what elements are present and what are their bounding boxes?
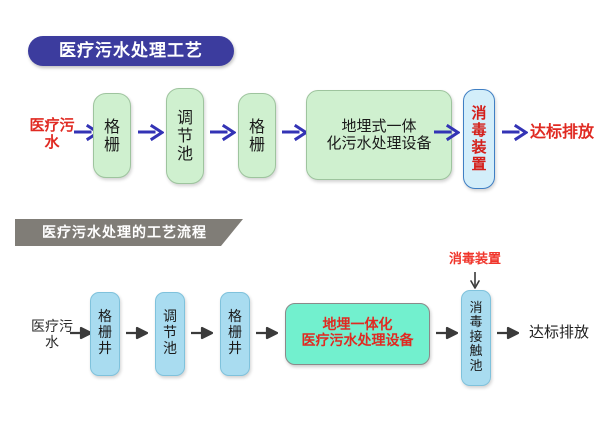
section1-banner-title: 医疗污水处理工艺: [59, 43, 203, 60]
section1-arrow-5: [502, 124, 528, 142]
section1-node-3[interactable]: 地埋式一体 化污水处理设备: [306, 90, 452, 180]
section2-banner-title: 医疗污水处理的工艺流程: [15, 226, 207, 240]
section2-node-4-line-1: 毒: [469, 315, 482, 330]
section1-node-3-line-1: 化污水处理设备: [326, 135, 431, 152]
section2-banner: 医疗污水处理的工艺流程: [15, 219, 243, 246]
section2-node-0-line-1: 栅: [98, 325, 112, 341]
section1-arrow-1: [138, 124, 164, 142]
section1-node-1-line-1: 节: [177, 127, 193, 145]
section2-node-0-line-0: 格: [98, 309, 112, 325]
section1-node-4-line-0: 消: [471, 104, 486, 122]
section2-node-1-line-1: 节: [163, 325, 177, 341]
section2-node-2-line-2: 井: [228, 341, 242, 357]
section2-node-1-line-2: 池: [163, 341, 177, 357]
section2-node-0-line-2: 井: [98, 341, 112, 357]
section2-node-3-line-1: 医疗污水处理设备: [302, 334, 414, 350]
section1-node-1-line-2: 池: [177, 145, 193, 163]
section1-node-4-line-2: 装: [471, 138, 486, 156]
section1-node-0[interactable]: 格 栅: [93, 93, 131, 178]
section2-node-4-line-2: 接: [469, 330, 482, 345]
section1-node-1-line-0: 调: [177, 109, 193, 127]
section1-arrow-2: [210, 124, 236, 142]
section2-arrow-4: [436, 325, 458, 341]
section2-node-4-line-0: 消: [469, 301, 482, 316]
section2-node-4-line-3: 触: [469, 344, 482, 359]
section1-node-4[interactable]: 消 毒 装 置: [463, 89, 495, 189]
section2-output-label: 达标排放: [524, 322, 594, 344]
section1-node-2[interactable]: 格 栅: [238, 93, 276, 178]
section1-arrow-4: [434, 124, 460, 142]
section2-node-3[interactable]: 地埋一体化 医疗污水处理设备: [285, 303, 430, 365]
section2-arrow-3: [256, 325, 278, 341]
section1-node-4-line-1: 毒: [471, 121, 486, 139]
section1-banner: 医疗污水处理工艺: [28, 36, 234, 66]
section2-arrow-0: [70, 325, 92, 341]
diagram-canvas: 医疗污水处理工艺 医疗污水 格 栅 调 节 池: [0, 0, 600, 430]
section2-node-3-line-0: 地埋一体化: [302, 318, 414, 334]
section2-node-2-line-0: 格: [228, 309, 242, 325]
section1-node-3-line-0: 地埋式一体: [326, 118, 431, 135]
section2-node-0[interactable]: 格 栅 井: [90, 292, 120, 376]
section1-input-label: 医疗污水: [26, 112, 78, 156]
section2-node-1-line-0: 调: [163, 309, 177, 325]
section1-node-2-line-0: 格: [249, 118, 265, 136]
section2-node-4[interactable]: 消 毒 接 触 池: [461, 290, 491, 386]
section1-node-0-line-0: 格: [104, 118, 120, 136]
section2-node-1[interactable]: 调 节 池: [155, 292, 185, 376]
section2-arrow-2: [191, 325, 213, 341]
section2-annotation-down-arrow: [468, 272, 482, 290]
section1-arrow-3: [282, 124, 308, 142]
section1-node-4-line-3: 置: [471, 155, 486, 173]
section2-node-4-line-4: 池: [469, 359, 482, 374]
section2-node-2[interactable]: 格 栅 井: [220, 292, 250, 376]
section1-node-1[interactable]: 调 节 池: [166, 88, 204, 184]
section1-node-0-line-1: 栅: [104, 136, 120, 154]
section1-node-2-line-1: 栅: [249, 136, 265, 154]
section2-node-2-line-1: 栅: [228, 325, 242, 341]
section2-annotation-label: 消毒装置: [432, 251, 518, 269]
section2-arrow-5: [497, 325, 519, 341]
section2-arrow-1: [126, 325, 148, 341]
section1-output-label: 达标排放: [526, 120, 598, 144]
